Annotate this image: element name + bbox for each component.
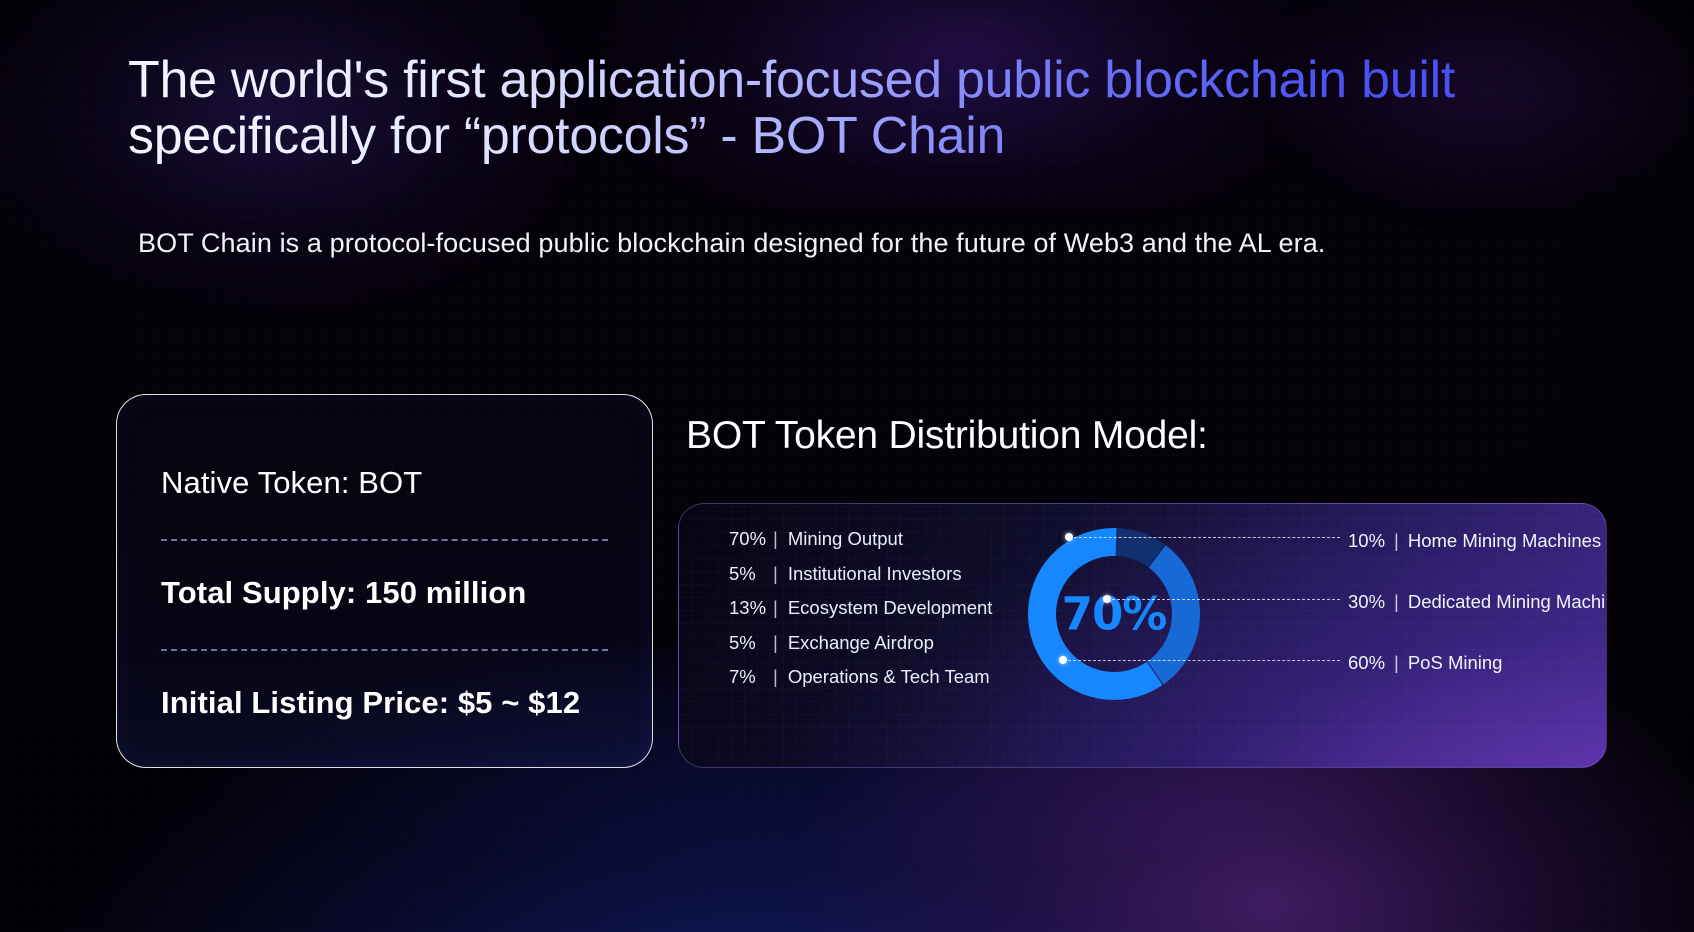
breakdown-item-dedicated-mining: 30% | Dedicated Mining Machines — [1348, 591, 1607, 613]
page-title-line-2: specifically for “protocols” - BOT Chain — [128, 108, 1598, 164]
divider-2 — [161, 649, 608, 651]
legend-item: 70% | Mining Output — [729, 522, 992, 557]
breakdown-percent: 30% — [1348, 591, 1385, 613]
total-supply-row: Total Supply: 150 million — [161, 575, 608, 611]
breakdown-separator: | — [1394, 591, 1399, 613]
divider-1 — [161, 539, 608, 541]
token-distribution-chart-card: 70% | Mining Output 5% | Institutional I… — [678, 503, 1607, 768]
distribution-title: BOT Token Distribution Model: — [686, 414, 1208, 458]
page-title-line-1: The world's first application-focused pu… — [128, 51, 1455, 109]
page-subtitle: BOT Chain is a protocol-focused public b… — [138, 228, 1588, 259]
connector-dot-home-mining — [1065, 533, 1073, 541]
legend-percent: 13% — [729, 591, 771, 626]
mining-output-donut-chart: 70% — [1014, 514, 1214, 714]
breakdown-label: PoS Mining — [1408, 652, 1503, 674]
connector-line-pos-mining — [1068, 660, 1340, 661]
legend-label: Operations & Tech Team — [788, 660, 990, 695]
donut-breakdown-labels: 10% | Home Mining Machines 30% | Dedicat… — [1234, 504, 1607, 767]
legend-label: Institutional Investors — [788, 557, 962, 592]
legend-percent: 70% — [729, 522, 771, 557]
page-title: The world's first application-focused pu… — [128, 52, 1598, 164]
breakdown-item-home-mining: 10% | Home Mining Machines — [1348, 530, 1601, 552]
native-token-row: Native Token: BOT — [161, 465, 608, 501]
legend-label: Exchange Airdrop — [788, 626, 934, 661]
legend-item: 13% | Ecosystem Development — [729, 591, 992, 626]
breakdown-item-pos-mining: 60% | PoS Mining — [1348, 652, 1502, 674]
initial-listing-price-row: Initial Listing Price: $5 ~ $12 — [161, 685, 608, 721]
connector-line-dedicated-mining — [1112, 599, 1340, 600]
connector-dot-pos-mining — [1059, 656, 1067, 664]
breakdown-separator: | — [1394, 530, 1399, 552]
legend-separator: | — [773, 522, 778, 557]
legend-separator: | — [773, 557, 778, 592]
token-info-card: Native Token: BOT Total Supply: 150 mill… — [116, 394, 653, 768]
native-token-label: Native Token: — [161, 465, 358, 500]
legend-label: Ecosystem Development — [788, 591, 993, 626]
legend-separator: | — [773, 591, 778, 626]
legend-percent: 5% — [729, 626, 771, 661]
breakdown-separator: | — [1394, 652, 1399, 674]
native-token-value: BOT — [358, 465, 422, 500]
legend-item: 7% | Operations & Tech Team — [729, 660, 992, 695]
legend-percent: 5% — [729, 557, 771, 592]
breakdown-label: Dedicated Mining Machines — [1408, 591, 1607, 613]
breakdown-percent: 60% — [1348, 652, 1385, 674]
legend-item: 5% | Exchange Airdrop — [729, 626, 992, 661]
legend-item: 5% | Institutional Investors — [729, 557, 992, 592]
breakdown-percent: 10% — [1348, 530, 1385, 552]
connector-dot-dedicated-mining — [1103, 595, 1111, 603]
legend-separator: | — [773, 660, 778, 695]
connector-line-home-mining — [1074, 537, 1340, 538]
legend-percent: 7% — [729, 660, 771, 695]
legend-label: Mining Output — [788, 522, 903, 557]
donut-center-label: 70% — [1062, 588, 1167, 641]
legend-separator: | — [773, 626, 778, 661]
distribution-legend: 70% | Mining Output 5% | Institutional I… — [729, 522, 992, 695]
breakdown-label: Home Mining Machines — [1408, 530, 1601, 552]
